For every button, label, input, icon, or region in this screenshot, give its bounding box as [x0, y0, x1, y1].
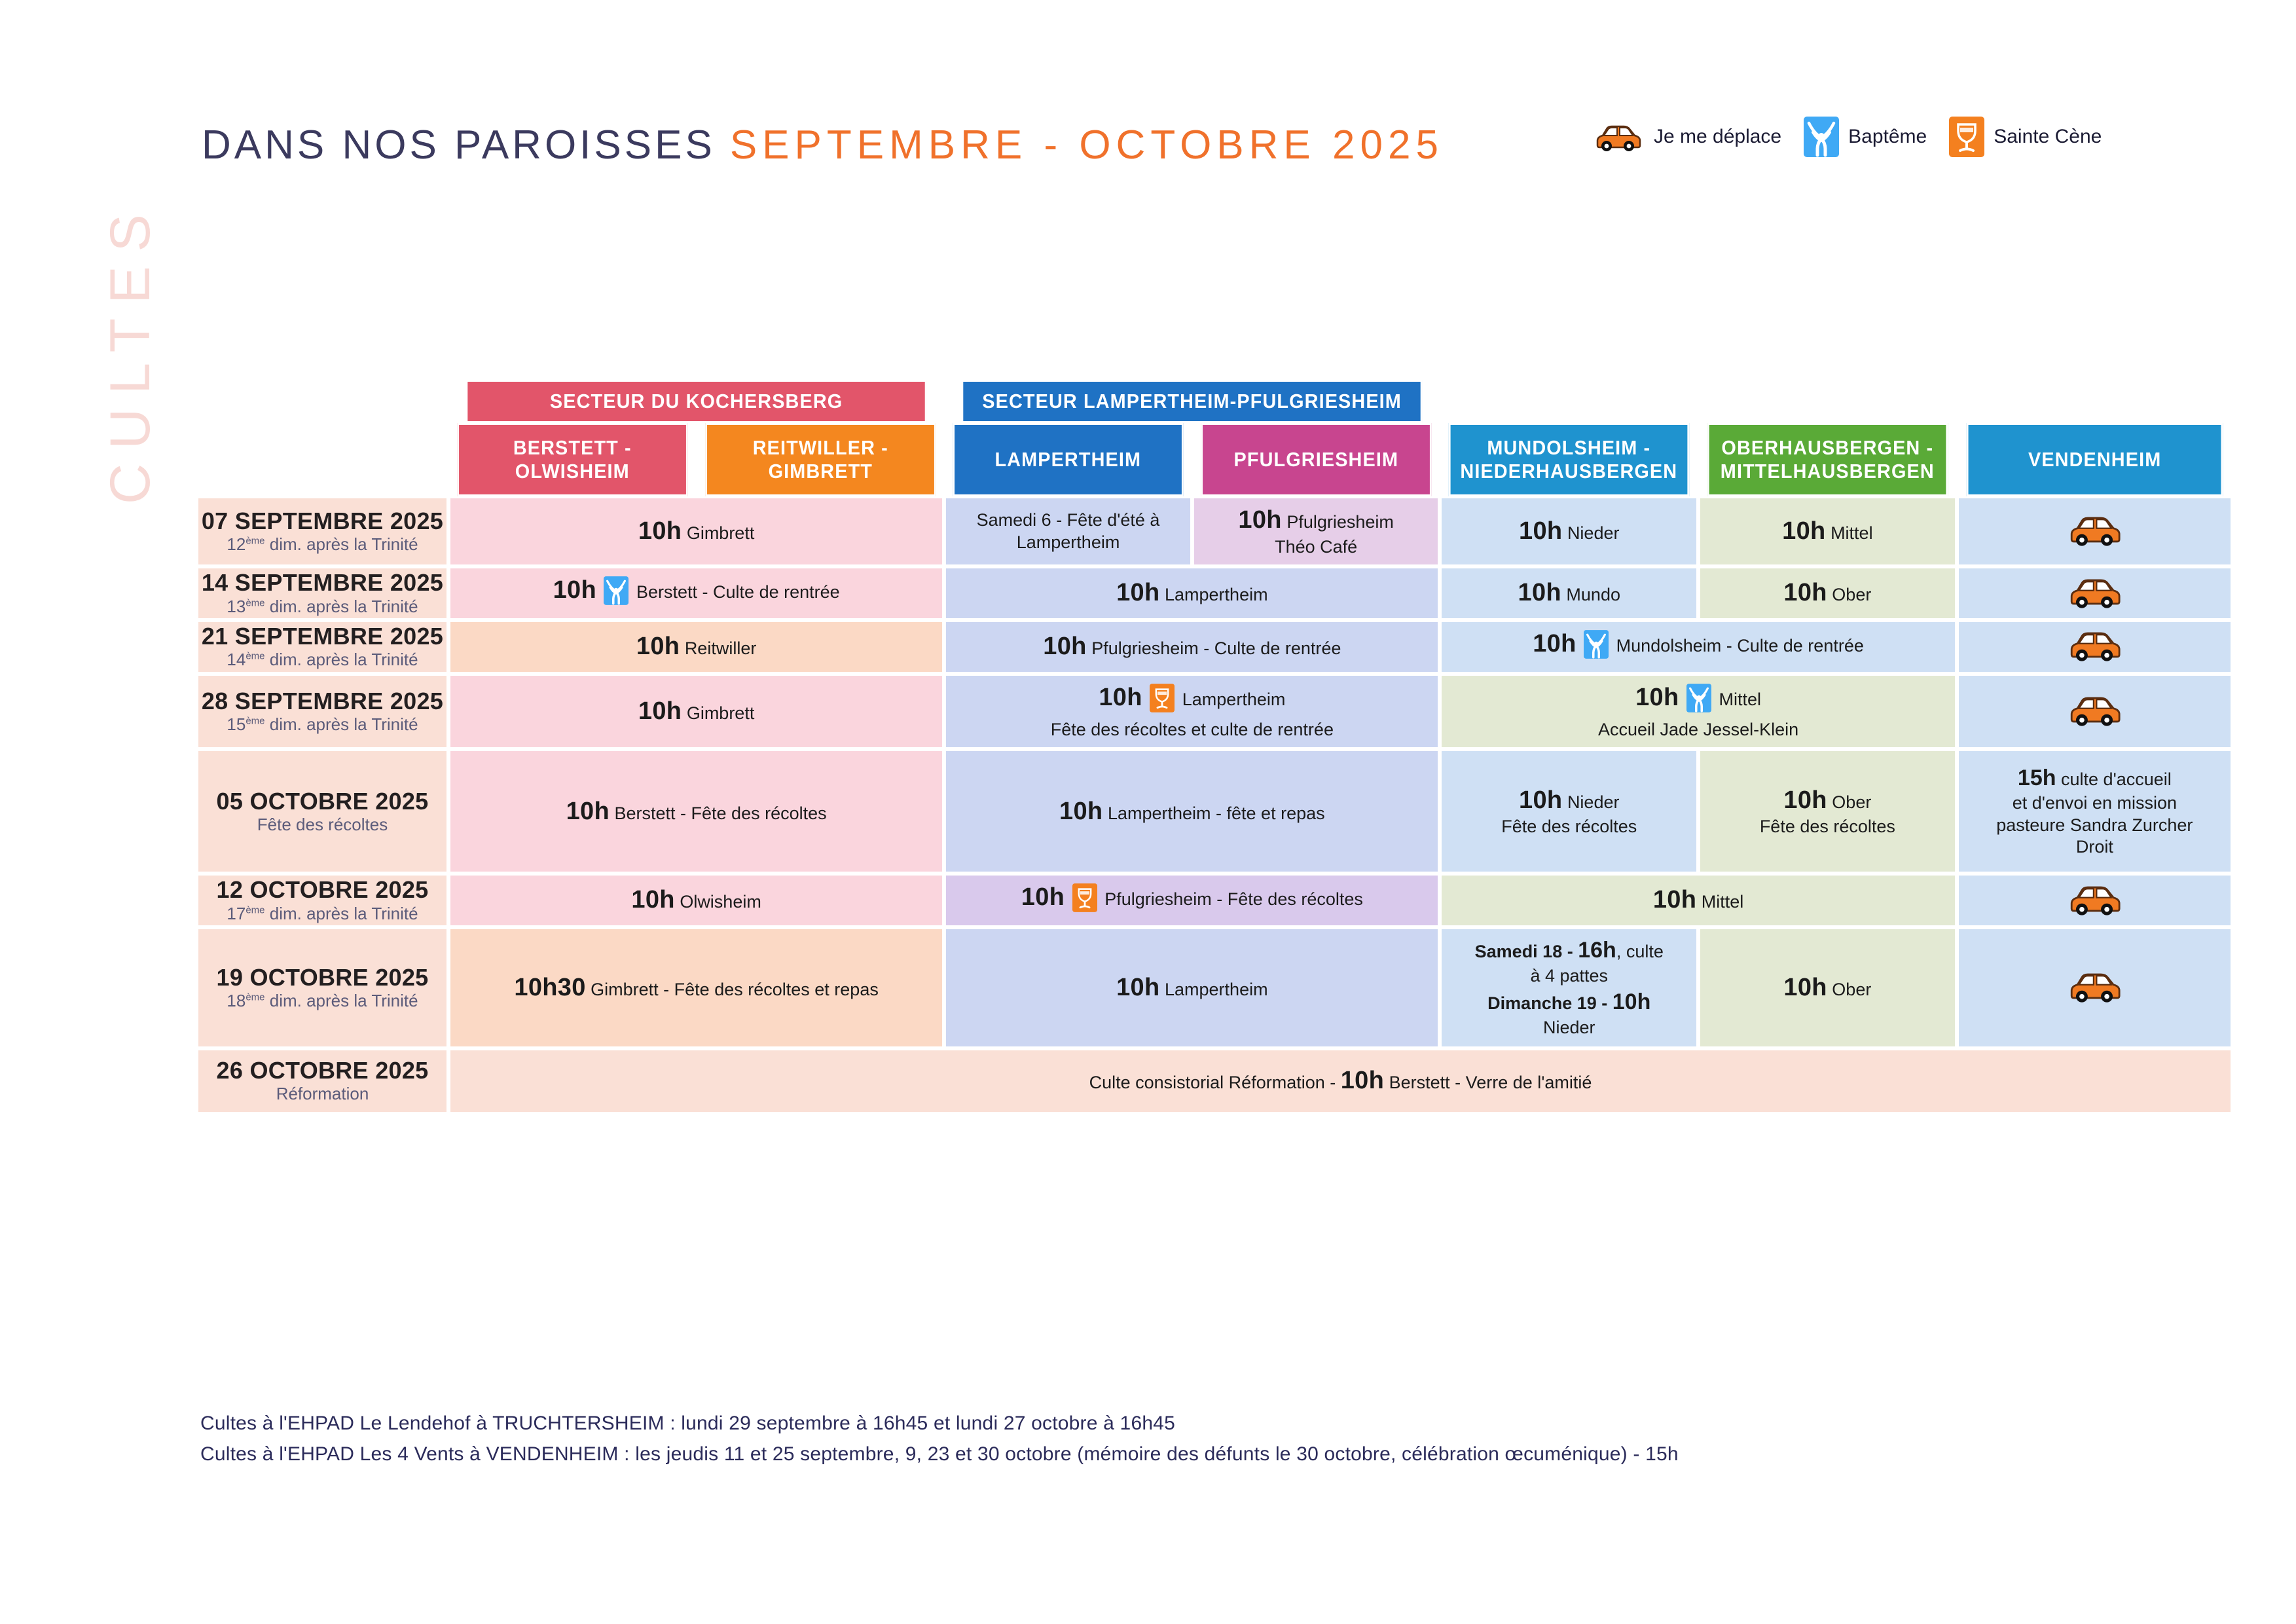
chalice-icon — [1150, 683, 1175, 719]
cell-time: 10h — [638, 697, 682, 725]
date-sub: Réformation — [198, 1084, 446, 1104]
parish-header-reitwiller-gimbrett: REITWILLER - GIMBRETT — [705, 423, 936, 496]
cell-time: 10h — [1635, 684, 1679, 711]
parish-header-lampertheim: LAMPERTHEIM — [953, 423, 1183, 496]
cell-line1: Samedi 6 - Fête d'été à — [951, 509, 1185, 532]
cell-pre: Culte consistorial Réformation - — [1089, 1073, 1341, 1092]
chalice-icon — [1072, 883, 1097, 919]
cell-mundolsheim: 10h Nieder — [1440, 496, 1698, 566]
cell-time: 10h — [1533, 630, 1576, 657]
cell-lampertheim-pfulgriesheim: 10h Lampertheim Fête des récoltes et cul… — [944, 674, 1440, 750]
cell-post: Berstett - Verre de l'amitié — [1384, 1073, 1592, 1092]
cell-line4: Nieder — [1447, 1016, 1691, 1039]
table-row: 28 SEPTEMBRE 2025 15ème dim. après la Tr… — [196, 674, 2232, 750]
cell-label: Nieder — [1567, 792, 1620, 812]
date-cell: 07 SEPTEMBRE 2025 12ème dim. après la Tr… — [196, 496, 448, 566]
date-sub-sup: ème — [246, 904, 264, 915]
cell-line2: Théo Café — [1199, 536, 1433, 559]
cell-oberhausbergen: 10h Ober Fête des récoltes — [1698, 749, 1957, 874]
cell-label: Mundolsheim - Culte de rentrée — [1616, 636, 1864, 655]
legend-label-baptism: Baptême — [1848, 126, 1927, 148]
cell-vendenheim — [1957, 496, 2232, 566]
cell-text: 10h30 Gimbrett - Fête des récoltes et re… — [450, 966, 942, 1010]
page-title: DANS NOS PAROISSESSEPTEMBRE - OCTOBRE 20… — [202, 122, 1444, 168]
date-cell: 05 OCTOBRE 2025 Fête des récoltes — [196, 749, 448, 874]
cell-label: Lampertheim — [1182, 690, 1286, 709]
table-row: 26 OCTOBRE 2025 Réformation Culte consis… — [196, 1048, 2232, 1114]
cell-time: 10h — [1043, 633, 1086, 660]
cell-line2: Fête des récoltes et culte de rentrée — [951, 719, 1432, 741]
date-sub-sup: ème — [246, 715, 264, 726]
cell-line3-bold: Dimanche 19 - — [1487, 993, 1613, 1013]
cell-text: 10h Nieder — [1442, 509, 1696, 554]
cell-time: 10h — [566, 798, 610, 825]
cell-lampertheim-pfulgriesheim: 10h Lampertheim - fête et repas — [944, 749, 1440, 874]
table-row: 14 SEPTEMBRE 2025 13ème dim. après la Tr… — [196, 566, 2232, 620]
cell-time: 10h — [1099, 684, 1142, 711]
parish-header-berstett-olwisheim: BERSTETT - OLWISHEIM — [457, 423, 687, 496]
cell-time: 10h — [1021, 883, 1065, 911]
cell-line1-time: 16h — [1578, 938, 1616, 963]
date-sub: 14ème dim. après la Trinité — [198, 650, 446, 670]
cell-mundolsheim: 10h Mundo — [1440, 566, 1698, 620]
parish-header-line2: MITTELHAUSBERGEN — [1709, 460, 1946, 483]
date-sub: 13ème dim. après la Trinité — [198, 597, 446, 617]
parish-header-line2: GIMBRETT — [707, 460, 934, 483]
cell-time: 10h — [1519, 517, 1562, 545]
date-cell: 19 OCTOBRE 2025 18ème dim. après la Trin… — [196, 927, 448, 1048]
car-icon — [2064, 908, 2124, 919]
legend-item-car: Je me déplace — [1591, 121, 1781, 153]
date-sub: Fête des récoltes — [198, 815, 446, 835]
cell-label: Lampertheim — [1165, 585, 1268, 604]
cell-label: Berstett - Culte de rentrée — [636, 582, 840, 602]
cell-lampertheim-pfulgriesheim: 10h Lampertheim — [944, 566, 1440, 620]
cell-text: 10h Ober — [1700, 571, 1955, 616]
cell-text: 10h Mundo — [1442, 571, 1696, 616]
cell-line1-bold: Samedi 18 - — [1475, 942, 1578, 961]
cell-label: Gimbrett - Fête des récoltes et repas — [591, 980, 879, 999]
cell-lampertheim-pfulgriesheim: 10h Pfulgriesheim - Fête des récoltes — [944, 874, 1440, 927]
date-sub-sup: ème — [246, 536, 264, 547]
date-cell: 26 OCTOBRE 2025 Réformation — [196, 1048, 448, 1114]
date-main: 19 OCTOBRE 2025 — [198, 965, 446, 991]
date-cell: 14 SEPTEMBRE 2025 13ème dim. après la Tr… — [196, 566, 448, 620]
cell-text: 10h Lampertheim Fête des récoltes et cul… — [946, 676, 1438, 748]
date-sub-num: 15 — [227, 714, 246, 734]
date-main: 26 OCTOBRE 2025 — [198, 1058, 446, 1084]
car-icon — [2064, 995, 2124, 1006]
cell-oberhausbergen: 10h Mittel — [1698, 496, 1957, 566]
cell-line2: Lampertheim — [951, 532, 1185, 554]
parish-header-line1: OBERHAUSBERGEN - — [1709, 436, 1946, 460]
cell-text: 10h Lampertheim — [946, 966, 1438, 1010]
date-sub-rest: dim. après la Trinité — [265, 597, 418, 616]
cell-line2: Fête des récoltes — [1705, 816, 1950, 838]
legend-item-chalice: Sainte Cène — [1949, 117, 2102, 157]
legend: Je me déplace Baptême — [1591, 117, 2102, 157]
cell-label: Lampertheim — [1165, 980, 1268, 999]
date-sub-num: 14 — [227, 650, 246, 669]
cell-vendenheim — [1957, 927, 2232, 1048]
date-sub: 12ème dim. après la Trinité — [198, 534, 446, 555]
cell-vendenheim — [1957, 566, 2232, 620]
chalice-icon — [1949, 117, 1984, 157]
cell-text: 10h Berstett - Fête des récoltes — [450, 790, 942, 834]
cell-text: 10h Lampertheim — [946, 571, 1438, 616]
cultes-schedule-table: SECTEUR DU KOCHERSBERG SECTEUR LAMPERTHE… — [196, 380, 2232, 1114]
sector-header-lampertheim-pfulgriesheim: SECTEUR LAMPERTHEIM-PFULGRIESHEIM — [962, 380, 1423, 423]
cell-time: 10h — [631, 886, 674, 913]
cell-label: Reitwiller — [685, 638, 757, 658]
cell-pfulgriesheim: 10h Pfulgriesheim Théo Café — [1192, 496, 1440, 566]
footer-note-2: Cultes à l'EHPAD Les 4 Vents à VENDENHEI… — [200, 1439, 1679, 1469]
cell-text: 10h Reitwiller — [450, 625, 942, 669]
cell-vendenheim — [1957, 620, 2232, 674]
cell-label: Ober — [1832, 792, 1871, 812]
cell-label: Olwisheim — [680, 892, 761, 912]
cell-label: Pfulgriesheim — [1286, 512, 1394, 532]
cell-text: 10h Ober Fête des récoltes — [1700, 779, 1955, 845]
cell-time: 15h — [2018, 766, 2056, 790]
table-row: 05 OCTOBRE 2025 Fête des récoltes 10h Be… — [196, 749, 2232, 874]
parish-header-line2: NIEDERHAUSBERGEN — [1451, 460, 1687, 483]
parish-header-vendenheim: VENDENHEIM — [1966, 423, 2223, 496]
footer-notes: Cultes à l'EHPAD Le Lendehof à TRUCHTERS… — [200, 1408, 1679, 1470]
parish-header-line1: BERSTETT - — [459, 436, 686, 460]
cell-time: 10h — [1783, 579, 1827, 606]
cell-oberhausbergen: 10h Ober — [1698, 566, 1957, 620]
cell-kochersberg: 10h Reitwiller — [448, 620, 944, 674]
cell-time: 10h — [1518, 579, 1561, 606]
date-sub: 15ème dim. après la Trinité — [198, 714, 446, 735]
cell-lampertheim-pfulgriesheim: 10h Lampertheim — [944, 927, 1440, 1048]
cell-oberhausbergen: 10h Ober — [1698, 927, 1957, 1048]
cell-kochersberg: 10h Gimbrett — [448, 674, 944, 750]
date-sub-num: 13 — [227, 597, 246, 616]
cell-text: 10h Berstett - Culte de rentrée — [450, 568, 942, 618]
parish-header-pfulgriesheim: PFULGRIESHEIM — [1201, 423, 1431, 496]
baptism-icon — [1804, 117, 1839, 157]
cell-line2: et d'envoi en mission — [1964, 792, 2225, 815]
date-cell: 21 SEPTEMBRE 2025 14ème dim. après la Tr… — [196, 620, 448, 674]
cell-time: 10h — [1059, 798, 1102, 825]
date-cell: 28 SEPTEMBRE 2025 15ème dim. après la Tr… — [196, 674, 448, 750]
parish-header-line1: LAMPERTHEIM — [955, 448, 1182, 471]
cell-line3: pasteure Sandra Zurcher — [1964, 815, 2225, 837]
date-main: 21 SEPTEMBRE 2025 — [198, 623, 446, 650]
date-sub-num: 18 — [227, 991, 246, 1010]
date-sub-num: 17 — [227, 904, 246, 923]
cell-mundolsheim-oberhausbergen: 10h Mittel — [1440, 874, 1956, 927]
cell-text: 10h Mittel — [1700, 509, 1955, 554]
date-sub-rest: dim. après la Trinité — [265, 714, 418, 734]
cell-line1-rest: , culte — [1616, 942, 1664, 961]
car-icon — [1591, 121, 1645, 153]
page-title-part1: DANS NOS PAROISSES — [202, 122, 716, 168]
cell-text: Samedi 6 - Fête d'été à Lampertheim — [946, 503, 1190, 561]
cell-line4: Droit — [1964, 836, 2225, 858]
cell-mundolsheim: Samedi 18 - 16h, culte à 4 pattes Dimanc… — [1440, 927, 1698, 1048]
car-icon — [2064, 539, 2124, 550]
cell-line2: à 4 pattes — [1447, 965, 1691, 987]
cell-label: culte d'accueil — [2061, 769, 2172, 789]
sector-header-kochersberg: SECTEUR DU KOCHERSBERG — [466, 380, 927, 423]
page-header: DANS NOS PAROISSESSEPTEMBRE - OCTOBRE 20… — [0, 122, 2296, 200]
table-row: 21 SEPTEMBRE 2025 14ème dim. après la Tr… — [196, 620, 2232, 674]
date-sub-sup: ème — [246, 597, 264, 608]
cell-vendenheim: 15h culte d'accueil et d'envoi en missio… — [1957, 749, 2232, 874]
cell-text: Samedi 18 - 16h, culte à 4 pattes Dimanc… — [1442, 929, 1696, 1046]
cell-label: Lampertheim - fête et repas — [1108, 803, 1325, 823]
cell-text: 10h Pfulgriesheim - Culte de rentrée — [946, 625, 1438, 669]
table-row: 12 OCTOBRE 2025 17ème dim. après la Trin… — [196, 874, 2232, 927]
cell-time: 10h — [1116, 974, 1159, 1001]
parish-header-line1: MUNDOLSHEIM - — [1451, 436, 1687, 460]
legend-label-chalice: Sainte Cène — [1994, 126, 2102, 148]
cell-lampertheim-pfulgriesheim: 10h Pfulgriesheim - Culte de rentrée — [944, 620, 1440, 674]
date-main: 14 SEPTEMBRE 2025 — [198, 570, 446, 596]
cell-text: 15h culte d'accueil et d'envoi en missio… — [1959, 758, 2231, 865]
car-icon — [2064, 601, 2124, 612]
cell-label: Mittel — [1831, 523, 1873, 543]
date-sub-sup: ème — [246, 651, 264, 662]
date-main: 12 OCTOBRE 2025 — [198, 877, 446, 903]
cell-label: Mundo — [1566, 585, 1620, 604]
cell-mundolsheim-oberhausbergen: 10h Mundolsheim - Culte de rentrée — [1440, 620, 1956, 674]
cell-label: Mittel — [1702, 892, 1744, 912]
cell-time: 10h — [636, 633, 680, 660]
date-cell: 12 OCTOBRE 2025 17ème dim. après la Trin… — [196, 874, 448, 927]
cell-text: 10h Ober — [1700, 966, 1955, 1010]
cell-label: Ober — [1832, 980, 1871, 999]
date-sub-rest: dim. après la Trinité — [265, 650, 418, 669]
cell-label: Ober — [1832, 585, 1871, 604]
cell-time: 10h — [1341, 1067, 1384, 1094]
date-sub: 17ème dim. après la Trinité — [198, 904, 446, 924]
cell-text: 10h Olwisheim — [450, 878, 942, 923]
cell-kochersberg: 10h30 Gimbrett - Fête des récoltes et re… — [448, 927, 944, 1048]
cell-kochersberg: 10h Berstett - Culte de rentrée — [448, 566, 944, 620]
parish-header-line2: OLWISHEIM — [459, 460, 686, 483]
date-main: 28 SEPTEMBRE 2025 — [198, 688, 446, 714]
table-row: 19 OCTOBRE 2025 18ème dim. après la Trin… — [196, 927, 2232, 1048]
parish-header-line1: VENDENHEIM — [1968, 448, 2221, 471]
baptism-icon — [1584, 629, 1609, 665]
cell-lampertheim: Samedi 6 - Fête d'été à Lampertheim — [944, 496, 1192, 566]
legend-label-car: Je me déplace — [1654, 126, 1781, 148]
table-row: 07 SEPTEMBRE 2025 12ème dim. après la Tr… — [196, 496, 2232, 566]
cell-text: 10h Gimbrett — [450, 690, 942, 734]
sector-header-row: SECTEUR DU KOCHERSBERG SECTEUR LAMPERTHE… — [196, 380, 2232, 423]
cell-time: 10h — [1238, 506, 1281, 534]
cell-text: 10h Nieder Fête des récoltes — [1442, 779, 1696, 845]
cell-label: Gimbrett — [687, 703, 755, 723]
cell-kochersberg: 10h Olwisheim — [448, 874, 944, 927]
cell-text: 10h Gimbrett — [450, 509, 942, 554]
cell-label: Berstett - Fête des récoltes — [615, 803, 827, 823]
date-sub-rest: dim. après la Trinité — [265, 904, 418, 923]
parish-header-line1: PFULGRIESHEIM — [1203, 448, 1430, 471]
parish-header-mundolsheim-niederhausbergen: MUNDOLSHEIM - NIEDERHAUSBERGEN — [1449, 423, 1689, 496]
cell-text: 10h Pfulgriesheim Théo Café — [1194, 498, 1438, 564]
date-main: 05 OCTOBRE 2025 — [198, 788, 446, 815]
date-sub-rest: Réformation — [276, 1084, 369, 1103]
parish-header-row: BERSTETT - OLWISHEIM REITWILLER - GIMBRE… — [196, 423, 2232, 496]
cell-kochersberg: 10h Gimbrett — [448, 496, 944, 566]
cell-time: 10h — [1783, 786, 1827, 814]
cell-label: Pfulgriesheim - Culte de rentrée — [1091, 638, 1341, 658]
date-sub-sup: ème — [246, 991, 264, 1003]
date-sub-rest: dim. après la Trinité — [265, 991, 418, 1010]
cell-time: 10h — [1783, 974, 1827, 1001]
cell-time: 10h — [638, 517, 682, 545]
cell-label: Gimbrett — [687, 523, 755, 543]
cell-label: Nieder — [1567, 523, 1620, 543]
footer-note-1: Cultes à l'EHPAD Le Lendehof à TRUCHTERS… — [200, 1408, 1679, 1439]
cell-text: 10h Lampertheim - fête et repas — [946, 790, 1438, 834]
baptism-icon — [604, 576, 629, 612]
date-main: 07 SEPTEMBRE 2025 — [198, 508, 446, 534]
cell-vendenheim — [1957, 674, 2232, 750]
date-sub-num: 12 — [227, 534, 246, 554]
cell-text: 10h Pfulgriesheim - Fête des récoltes — [946, 876, 1438, 925]
cell-all-parishes: Culte consistorial Réformation - 10h Ber… — [448, 1048, 2232, 1114]
cell-vendenheim — [1957, 874, 2232, 927]
date-sub-rest: dim. après la Trinité — [265, 534, 418, 554]
date-sub-rest: Fête des récoltes — [257, 815, 388, 834]
car-icon — [2064, 719, 2124, 730]
cell-mundolsheim-oberhausbergen: 10h Mittel Accueil Jade Jessel-Klein — [1440, 674, 1956, 750]
cell-line2: Fête des récoltes — [1447, 816, 1691, 838]
page-title-part2: SEPTEMBRE - OCTOBRE 2025 — [730, 122, 1444, 168]
cell-line3-time: 10h — [1613, 989, 1651, 1014]
cell-text: 10h Mittel Accueil Jade Jessel-Klein — [1442, 676, 1954, 748]
cell-line2: Accueil Jade Jessel-Klein — [1447, 719, 1949, 741]
cell-text: 10h Mittel — [1442, 878, 1954, 923]
car-icon — [2064, 654, 2124, 665]
cell-time: 10h — [1116, 579, 1159, 606]
cell-text: Culte consistorial Réformation - 10h Ber… — [450, 1059, 2231, 1103]
cell-time: 10h — [1782, 517, 1825, 545]
cell-label: Mittel — [1719, 690, 1762, 709]
baptism-icon — [1686, 683, 1711, 719]
parish-header-line1: REITWILLER - — [707, 436, 934, 460]
watermark-side-cultes: CULTES — [98, 200, 163, 504]
cell-text: 10h Mundolsheim - Culte de rentrée — [1442, 622, 1954, 672]
cell-time: 10h30 — [514, 974, 585, 1001]
cell-mundolsheim: 10h Nieder Fête des récoltes — [1440, 749, 1698, 874]
date-sub: 18ème dim. après la Trinité — [198, 991, 446, 1011]
cell-time: 10h — [1519, 786, 1562, 814]
cell-time: 10h — [553, 576, 596, 604]
parish-header-oberhausbergen-mittelhausbergen: OBERHAUSBERGEN - MITTELHAUSBERGEN — [1707, 423, 1948, 496]
cell-time: 10h — [1653, 886, 1696, 913]
legend-item-baptism: Baptême — [1804, 117, 1927, 157]
cell-kochersberg: 10h Berstett - Fête des récoltes — [448, 749, 944, 874]
cell-label: Pfulgriesheim - Fête des récoltes — [1104, 889, 1363, 909]
